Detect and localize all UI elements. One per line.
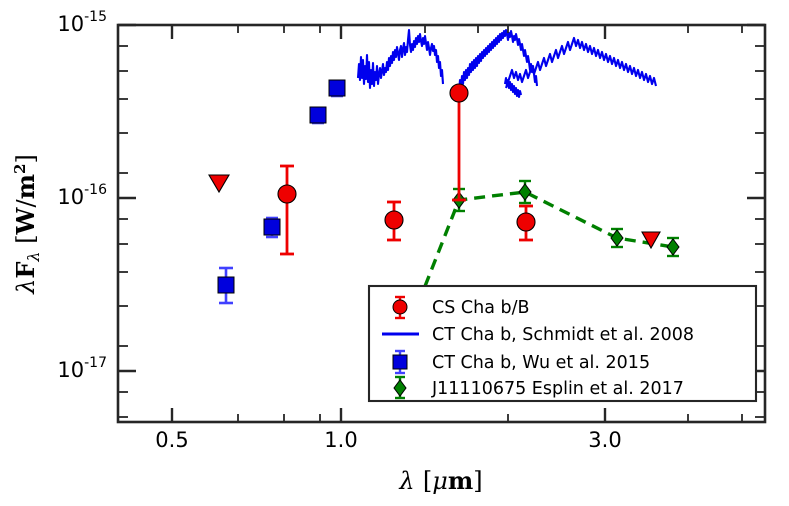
legend-entry-ct-cha-b-wu[interactable]: CT Cha b, Wu et al. 2015 <box>393 351 650 373</box>
legend-label-ct-cha-b-schmidt: CT Cha b, Schmidt et al. 2008 <box>432 325 694 345</box>
datapoint-upper-limit <box>209 175 229 192</box>
datapoint-square <box>310 107 326 123</box>
legend-label-j11110675-esplin: J11110675 Esplin et al. 2017 <box>431 379 684 399</box>
datapoint-circle <box>278 185 296 203</box>
plot-svg: 10-15 10-16 10-17 0.5 1.0 3.0 λ [μm] λFλ… <box>0 0 789 506</box>
y-axis-title: λFλ [W/m2] <box>11 154 43 295</box>
y-ticklabel-1e-15: 10-15 <box>57 9 107 36</box>
x-axis-ticklabels: 0.5 1.0 3.0 <box>155 428 621 452</box>
x-axis-title: λ [μm] <box>398 466 482 495</box>
circle-markers <box>278 84 535 231</box>
datapoint-circle <box>385 211 403 229</box>
x-ticklabel-1-0: 1.0 <box>324 428 357 452</box>
spectrum-segment-h-band <box>459 30 537 92</box>
y-ticklabel-1e-17: 10-17 <box>57 355 107 382</box>
legend-label-cs-cha-b: CS Cha b/B <box>432 298 530 318</box>
legend-label-ct-cha-b-wu: CT Cha b, Wu et al. 2015 <box>432 353 650 373</box>
spectrum-segment-j-band <box>358 30 443 88</box>
datapoint-square <box>218 277 234 293</box>
x-ticklabel-3-0: 3.0 <box>588 428 621 452</box>
figure-canvas: 10-15 10-16 10-17 0.5 1.0 3.0 λ [μm] λFλ… <box>0 0 789 506</box>
y-axis-ticklabels: 10-15 10-16 10-17 <box>57 9 107 382</box>
datapoint-circle <box>450 84 468 102</box>
datapoint-diamond <box>667 239 679 255</box>
x-ticklabel-0-5: 0.5 <box>155 428 188 452</box>
datapoint-square <box>329 80 345 96</box>
datapoint-upper-limit <box>642 232 660 248</box>
datapoint-circle <box>517 213 535 231</box>
datapoint-diamond <box>611 230 623 246</box>
legend[interactable]: CS Cha b/B CT Cha b, Schmidt et al. 2008… <box>369 286 756 401</box>
series-ct-cha-b-schmidt-spectrum <box>358 30 656 97</box>
datapoint-diamond <box>519 184 531 200</box>
datapoint-square <box>264 219 280 235</box>
y-ticklabel-1e-16: 10-16 <box>57 182 107 209</box>
legend-entry-j11110675-esplin[interactable]: J11110675 Esplin et al. 2017 <box>394 377 684 399</box>
